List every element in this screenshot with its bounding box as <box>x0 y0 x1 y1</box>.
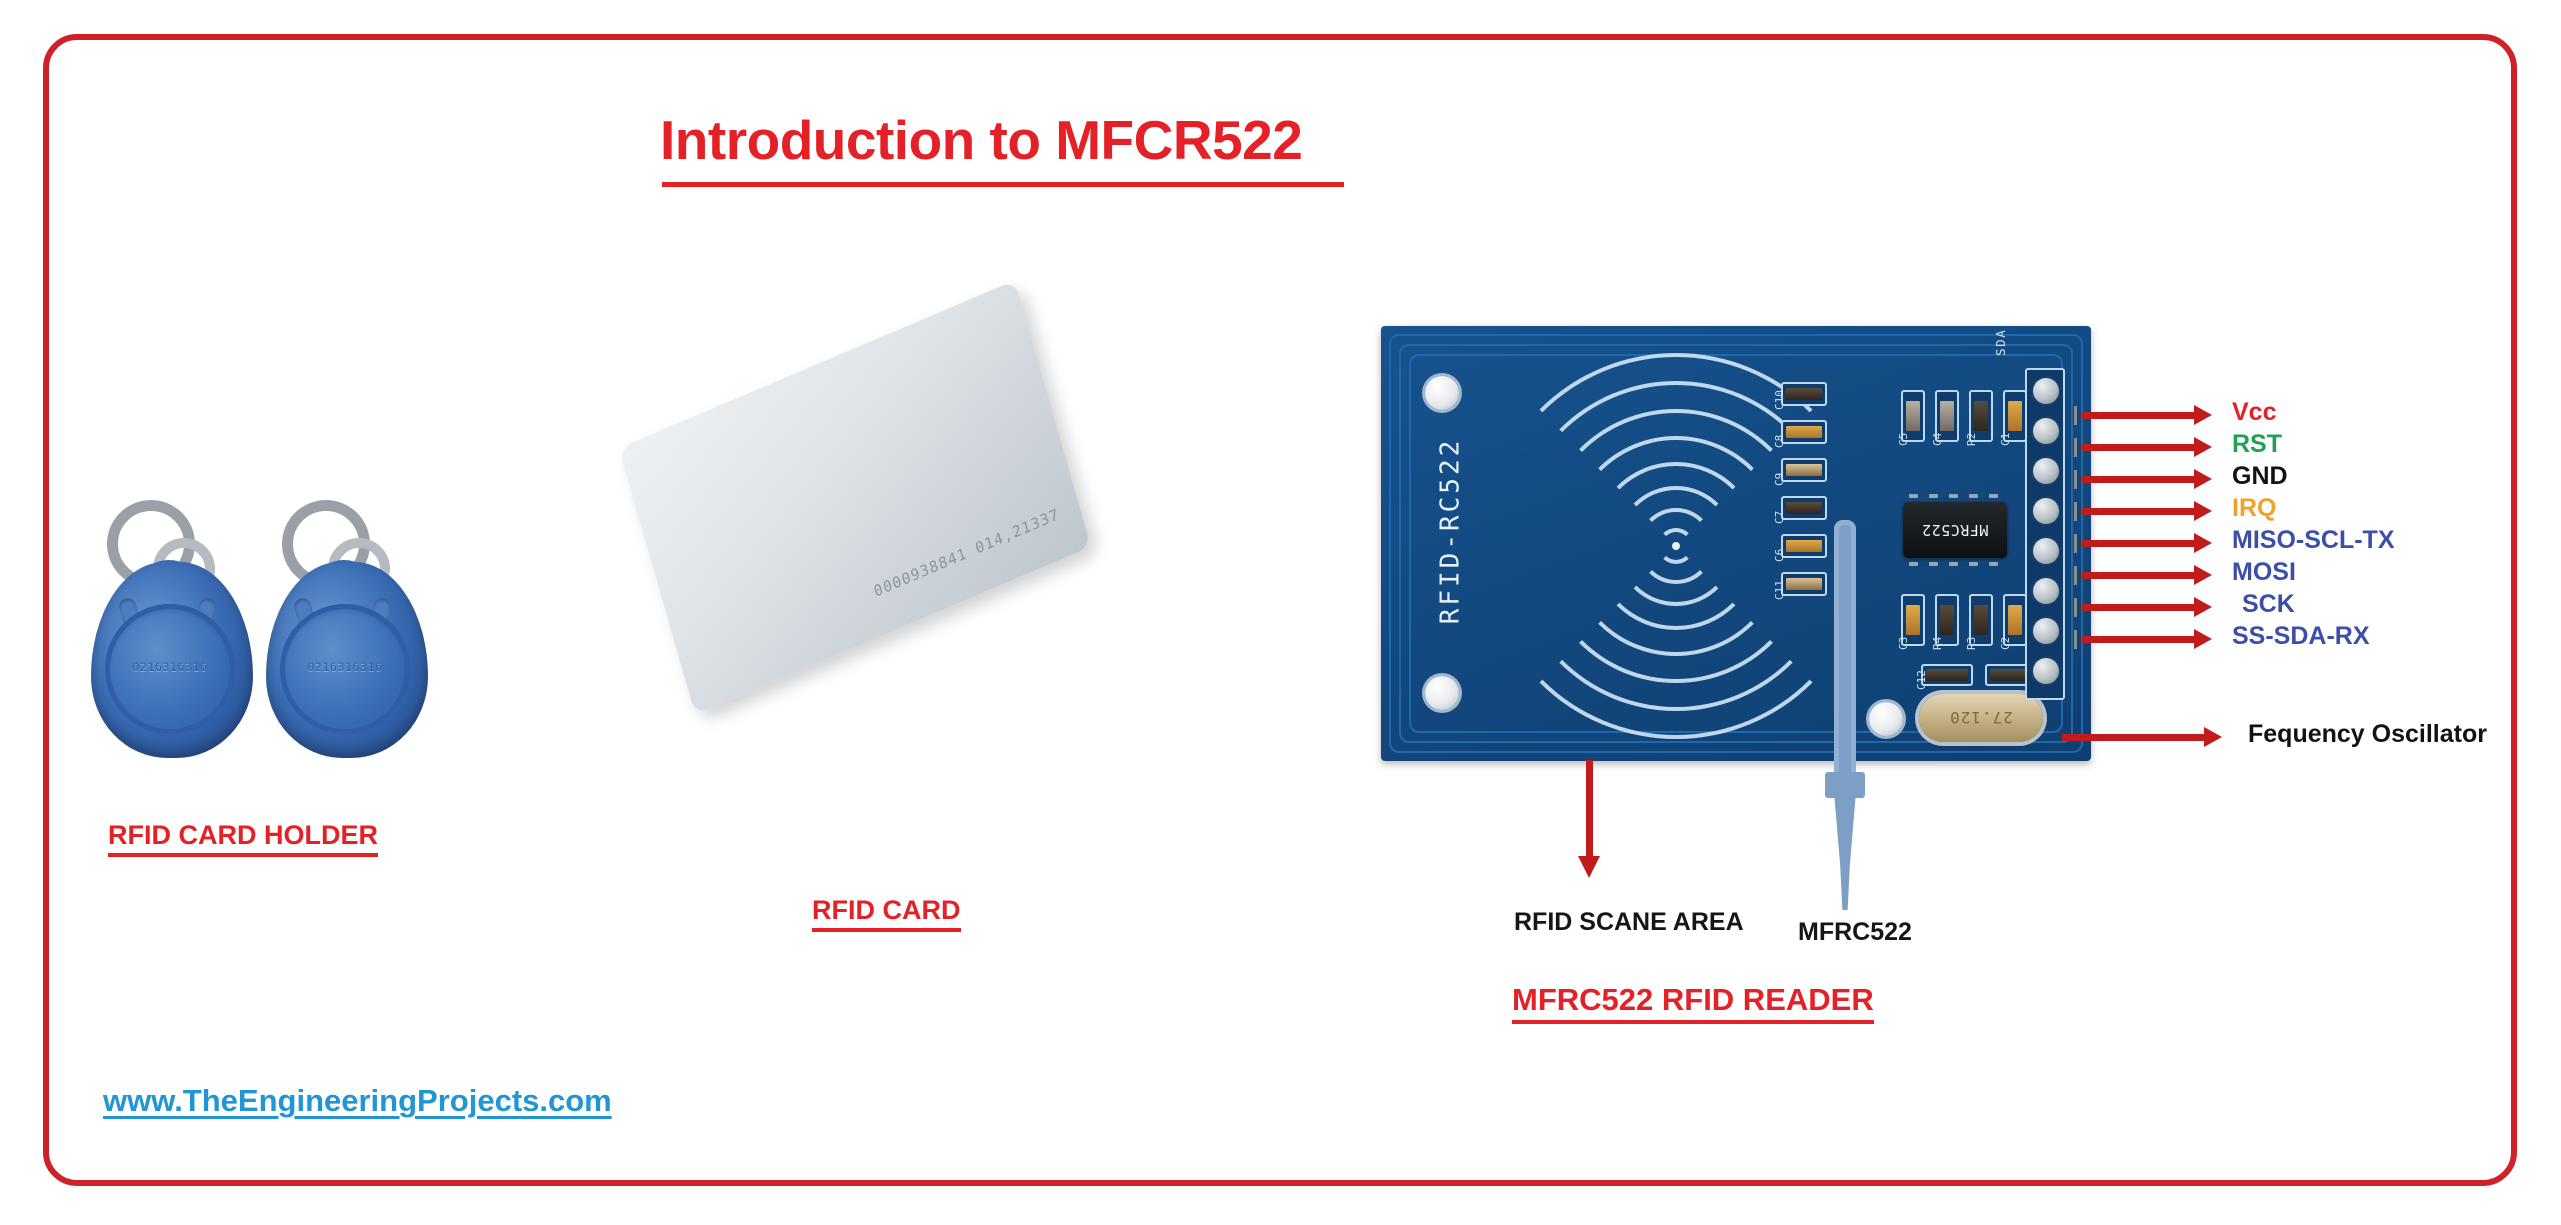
ic-leg <box>1949 494 1958 498</box>
rfid-card: 0000938841 014,21337 <box>619 280 1091 714</box>
pin-arrow-rst <box>2082 444 2212 451</box>
caption-card-holder-text: RFID CARD HOLDER <box>108 820 378 850</box>
page-title: Introduction to MFCR522 <box>660 108 1302 172</box>
fob-disc: 0216316316 <box>280 604 410 734</box>
ic-leg <box>1989 494 1998 498</box>
header-pin <box>2033 578 2059 604</box>
fob-disc: 0216316316 <box>105 604 235 734</box>
header-pin <box>2033 498 2059 524</box>
caption-mfrc522-chip: MFRC522 <box>1798 918 1912 947</box>
pin-arrow-vcc <box>2082 412 2212 419</box>
antenna-center-dot <box>1672 542 1680 550</box>
key-fob-2: 0216316316 <box>260 500 430 760</box>
ic-leg <box>1929 494 1938 498</box>
caption-underline <box>1512 1020 1874 1024</box>
pin-arrow-gnd <box>2082 476 2212 483</box>
mounting-hole <box>1869 702 1903 736</box>
component-pad <box>1781 534 1827 558</box>
component-label: C7 <box>1773 511 1786 524</box>
caption-rfid-card-text: RFID CARD <box>812 895 961 925</box>
component-label: R2 <box>1965 433 1978 446</box>
key-fob-1: 0216316316 <box>85 500 255 760</box>
ic-leg <box>1909 562 1918 566</box>
component-label: R3 <box>1965 637 1978 650</box>
component-label: C9 <box>1773 473 1786 486</box>
oscillator-label: Fequency Oscillator <box>2248 720 2487 749</box>
footer-website-link[interactable]: www.TheEngineeringProjects.com <box>103 1083 612 1119</box>
pin-label-irq: IRQ <box>2232 494 2276 523</box>
caption-card-holder: RFID CARD HOLDER <box>108 820 378 857</box>
rfid-card-image: 0000938841 014,21337 <box>600 300 1300 860</box>
ic-leg <box>1909 494 1918 498</box>
component-label: C1 <box>1999 433 2012 446</box>
component-pad <box>1781 420 1827 444</box>
fob-number: 0216316316 <box>280 660 410 674</box>
component-label: C4 <box>1931 433 1944 446</box>
rfid-card-number: 0000938841 014,21337 <box>872 505 1062 601</box>
pin-label-vcc: Vcc <box>2232 398 2276 427</box>
component-label: C6 <box>1773 549 1786 562</box>
header-pin <box>2033 378 2059 404</box>
pin-label-mosi: MOSI <box>2232 558 2296 587</box>
caption-underline <box>812 928 961 932</box>
component-label: C3 <box>1897 637 1910 650</box>
component-label: C10 <box>1773 390 1786 410</box>
caption-mfrc522-reader-text: MFRC522 RFID READER <box>1512 982 1874 1017</box>
ic-label: MFRC522 <box>1903 502 2007 558</box>
diagram-canvas: Introduction to MFCR522 0216316316 02163… <box>0 0 2561 1225</box>
pin-arrow-miso <box>2082 540 2212 547</box>
pin-arrow-sck <box>2082 604 2212 611</box>
component-label: C2 <box>1999 637 2012 650</box>
scan-area-arrow <box>1582 760 1596 882</box>
mounting-hole <box>1425 676 1459 710</box>
header-pin <box>2033 618 2059 644</box>
fob-number: 0216316316 <box>105 660 235 674</box>
pin-label-ss-sda-rx: SS-SDA-RX <box>2232 622 2370 651</box>
header-pin <box>2033 658 2059 684</box>
header-pin <box>2033 418 2059 444</box>
component-label: C11 <box>1773 580 1786 600</box>
ic-leg <box>1949 562 1958 566</box>
caption-mfrc522-reader: MFRC522 RFID READER <box>1512 982 1874 1024</box>
mounting-hole <box>1425 376 1459 410</box>
component-label: C12 <box>1915 670 1928 690</box>
ic-leg <box>1969 494 1978 498</box>
caption-rfid-card: RFID CARD <box>812 895 961 932</box>
ic-leg <box>1929 562 1938 566</box>
pin-label-miso: MISO-SCL-TX <box>2232 526 2395 555</box>
pin-arrow-ss-sda-rx <box>2082 636 2212 643</box>
header-pin <box>2033 538 2059 564</box>
header-pin <box>2033 458 2059 484</box>
component-label: R4 <box>1931 637 1944 650</box>
pin-label-rst: RST <box>2232 430 2282 459</box>
pin-arrow-irq <box>2082 508 2212 515</box>
mfrc522-ic-chip: MFRC522 <box>1903 502 2007 558</box>
ic-leg <box>1969 562 1978 566</box>
ic-leg <box>1989 562 1998 566</box>
oscillator-arrow <box>2062 734 2222 741</box>
rfid-key-fobs-image: 0216316316 0216316316 <box>85 500 485 790</box>
component-pad <box>1921 664 1973 686</box>
header-pin-strip <box>2025 368 2065 700</box>
page-title-underline <box>662 182 1344 187</box>
component-pad <box>1781 382 1827 406</box>
mfrc522-module-image: RFID-RC522 C10 C8 C9 C7 C6 C11 C5 C4 <box>1381 326 2091 761</box>
crystal-label: 27.120 <box>1919 694 2043 742</box>
caption-scan-area: RFID SCANE AREA <box>1514 908 1744 937</box>
component-pad <box>1781 496 1827 520</box>
component-pad <box>1781 572 1827 596</box>
pin-label-gnd: GND <box>2232 462 2288 491</box>
component-label: C5 <box>1897 433 1910 446</box>
mfrc522-chip-pointer <box>1822 520 1868 910</box>
pin-arrow-mosi <box>2082 572 2212 579</box>
header-silkscreen-labels: SDA SCK MOSI MISO IRQ GND RST 3.3V <box>1993 326 2008 356</box>
component-label: C8 <box>1773 435 1786 448</box>
board-silkscreen-label: RFID-RC522 <box>1435 438 1465 625</box>
component-pad <box>1781 458 1827 482</box>
pin-label-sck: SCK <box>2242 590 2295 619</box>
crystal-oscillator: 27.120 <box>1919 694 2043 742</box>
caption-underline <box>108 853 378 857</box>
